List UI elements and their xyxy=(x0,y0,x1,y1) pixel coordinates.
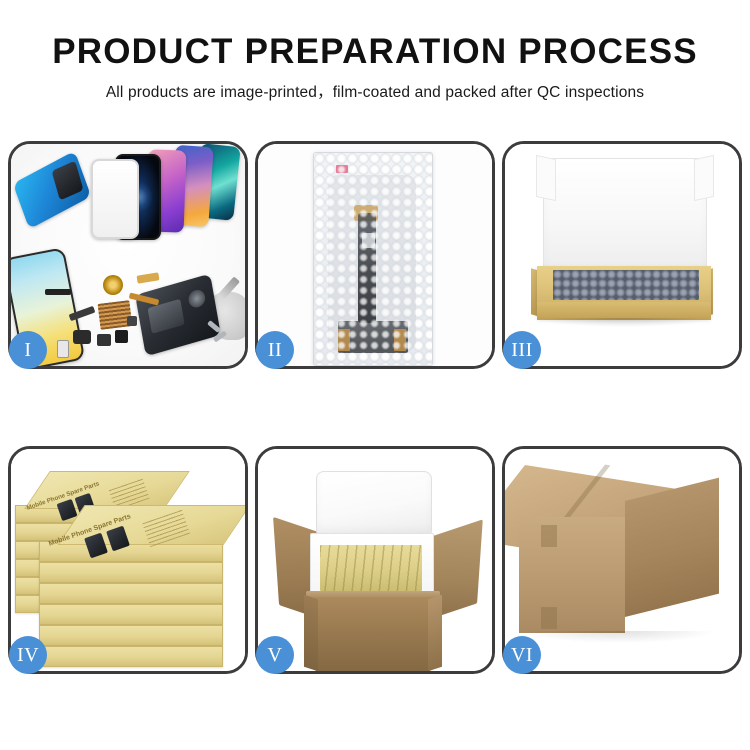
badge-step-2: II xyxy=(256,331,294,369)
photo-stacked-retail-boxes: Mobile Phone Spare Parts Mobile Phone Sp… xyxy=(11,449,245,671)
phone-back-cover xyxy=(135,274,221,357)
process-step-grid: I II xyxy=(8,141,742,674)
panel-step-3: III xyxy=(502,141,742,369)
part-vibration-motor xyxy=(97,334,111,346)
retail-box-front-5 xyxy=(39,625,223,646)
part-speaker-strip xyxy=(45,289,71,295)
packed-retail-boxes xyxy=(320,545,422,591)
box-bubble-padding xyxy=(553,270,699,300)
wrapped-chip xyxy=(362,233,375,248)
carton-shadow xyxy=(525,631,715,643)
panel-step-5: V xyxy=(255,446,495,674)
page-subtitle: All products are image-printed，film-coat… xyxy=(0,80,750,102)
retail-box-front-6 xyxy=(39,646,223,667)
badge-step-1: I xyxy=(9,331,47,369)
carton-tape-lower xyxy=(541,607,557,629)
panel-step-2-inner xyxy=(258,144,492,366)
panel-step-4-inner: Mobile Phone Spare Parts Mobile Phone Sp… xyxy=(11,449,245,671)
box-white-lid xyxy=(543,158,707,278)
part-ic-chip-1 xyxy=(115,330,128,343)
wrapped-tape-left xyxy=(338,329,350,351)
photo-sealed-shipping-carton xyxy=(505,449,739,671)
panel-step-3-inner xyxy=(505,144,739,366)
part-copper-coil xyxy=(103,275,123,295)
part-ic-chip-2 xyxy=(127,316,137,326)
box-shadow xyxy=(539,318,709,327)
photo-phone-screens-and-spare-parts xyxy=(11,144,245,366)
panel-step-5-inner xyxy=(258,449,492,671)
wrapped-flex-cable xyxy=(358,213,376,323)
page-header: PRODUCT PREPARATION PROCESS All products… xyxy=(0,0,750,102)
badge-step-3: III xyxy=(503,331,541,369)
carton-tape-upper xyxy=(541,525,557,547)
carton-body xyxy=(314,597,432,671)
part-sim-tray xyxy=(57,340,69,358)
part-camera-module xyxy=(73,330,91,344)
photo-carton-with-foam-insert xyxy=(258,449,492,671)
phone-white-screen xyxy=(91,159,139,239)
panel-step-6-inner xyxy=(505,449,739,671)
panel-step-1: I xyxy=(8,141,248,369)
bubble-wrap-bag xyxy=(313,152,433,366)
photo-open-kraft-box-with-padding xyxy=(505,144,739,366)
panel-step-1-inner xyxy=(11,144,245,366)
carton-side-face xyxy=(625,478,719,617)
part-flex-cable-3 xyxy=(137,272,160,283)
wrapped-qc-label xyxy=(336,165,348,173)
page-title: PRODUCT PREPARATION PROCESS xyxy=(0,34,750,71)
retail-box-front-4 xyxy=(39,604,223,625)
panel-step-4: Mobile Phone Spare Parts Mobile Phone Sp… xyxy=(8,446,248,674)
photo-screen-in-bubble-wrap xyxy=(258,144,492,366)
retail-box-front-2 xyxy=(39,562,223,583)
badge-step-6: VI xyxy=(503,636,541,674)
wrapped-tape-right xyxy=(394,329,406,351)
retail-box-front-3 xyxy=(39,583,223,604)
phone-adhesive-frame xyxy=(13,151,91,229)
panel-step-6: VI xyxy=(502,446,742,674)
carton-front-face xyxy=(519,517,625,633)
panel-step-2: II xyxy=(255,141,495,369)
badge-step-5: V xyxy=(256,636,294,674)
retail-box-stack: Mobile Phone Spare Parts Mobile Phone Sp… xyxy=(11,449,245,671)
badge-step-4: IV xyxy=(9,636,47,674)
foam-cooler-lid xyxy=(316,471,432,535)
